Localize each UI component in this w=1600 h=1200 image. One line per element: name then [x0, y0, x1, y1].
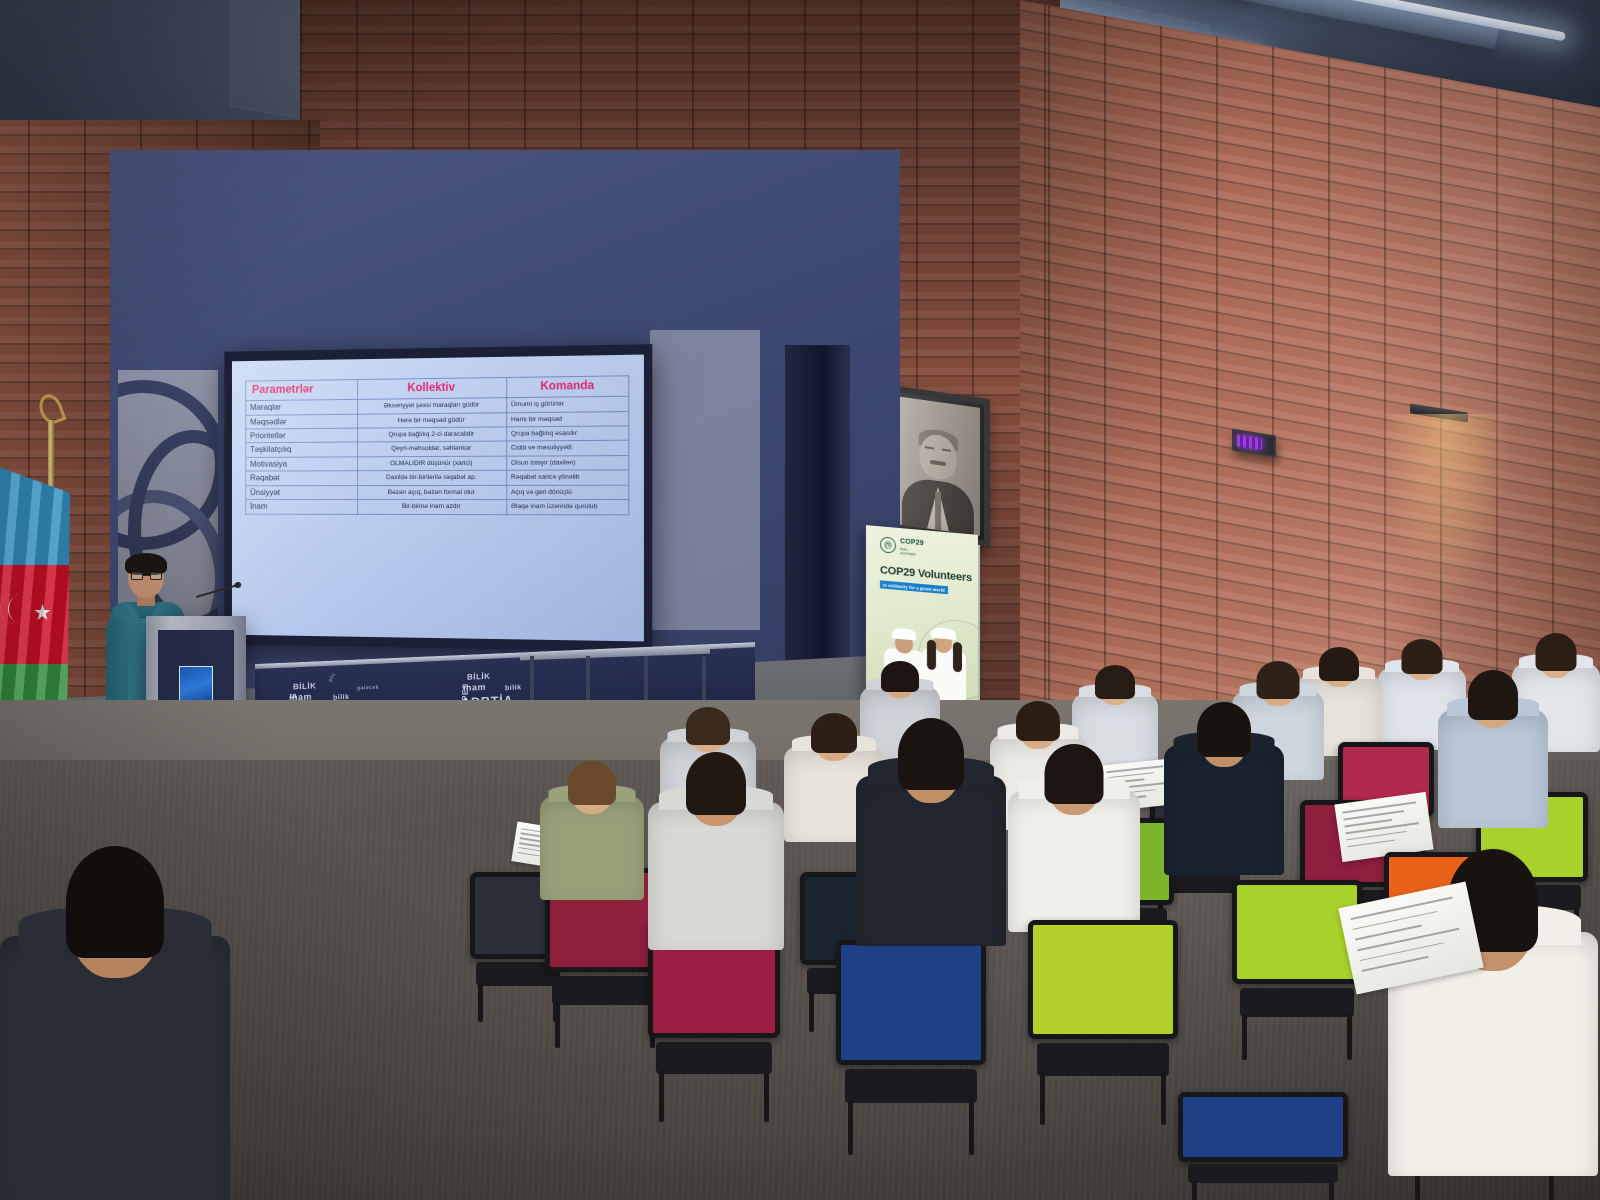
arc-motif [650, 330, 760, 530]
table-row: Motivasiya OLMALIDIR düşünür (xarici) Ol… [246, 455, 629, 471]
chair[interactable] [1028, 920, 1178, 1125]
chair-backrest [836, 940, 986, 1065]
chair-seat [1240, 988, 1354, 1017]
audience-member-hair [686, 752, 746, 815]
skirt-word: BİLİK [293, 681, 316, 691]
cell-kollektiv: Bir-birinə inam azdır [357, 500, 506, 515]
cell-komanda: Ciddi və məsuliyyətli [506, 441, 628, 456]
banner-tagline: In solidarity for a green world [880, 580, 948, 594]
eyeglasses-icon [131, 572, 162, 580]
paper-text-line [1358, 928, 1460, 951]
cell-komanda: Rəqabət xaricə yönəlib [506, 470, 628, 485]
chair-leg [1242, 1013, 1247, 1060]
projection-screen-frame: Parametrlər Kollektiv Komanda Maraqlar Ə… [224, 344, 652, 652]
paper-text-line [1353, 911, 1437, 930]
audience-member [648, 750, 784, 950]
chair-seat [1037, 1043, 1169, 1076]
audience-member-hair [881, 661, 919, 692]
table-row: İnam Bir-birinə inam azdır Əlaqə inam üz… [246, 500, 629, 515]
audience-member [1164, 700, 1284, 875]
audience-member [856, 716, 1006, 946]
audience-member-hair [66, 846, 164, 958]
chair[interactable] [836, 940, 986, 1155]
chair-leg [1161, 1072, 1166, 1125]
chair-leg [659, 1070, 664, 1122]
skirt-word: güc [327, 672, 336, 683]
paper-text-line [1360, 942, 1444, 961]
cell-kollektiv: Əksəriyyət şəxsi maraqları güdür [357, 398, 506, 414]
chair[interactable] [648, 922, 780, 1122]
chair-leg [555, 1001, 560, 1048]
paper-text-line [1343, 801, 1416, 813]
cell-kollektiv: Qeyri-məhsuldar, səhlənkar [357, 442, 506, 457]
audience-member-hair [568, 761, 616, 805]
cell-parameter: İnam [246, 500, 357, 514]
audience-member-hair [1536, 633, 1577, 671]
column-header-parameters: Parametrlər [246, 380, 357, 401]
portrait-face [920, 433, 957, 482]
chair-seat [552, 976, 658, 1005]
chair-leg [764, 1070, 769, 1122]
chair-leg [1192, 1181, 1197, 1200]
chair-leg [809, 990, 814, 1032]
cell-parameter: Ünsiyyət [246, 485, 357, 499]
portrait-brow [942, 449, 951, 452]
chair-leg [969, 1099, 974, 1155]
projection-screen: Parametrlər Kollektiv Komanda Maraqlar Ə… [232, 355, 644, 642]
audience-member-hair [898, 718, 964, 790]
chair-leg [1329, 1181, 1334, 1200]
eight-pointed-star-icon [34, 604, 51, 621]
cell-kollektiv: Daxildə bir-birilərilə rəqabət ap. [357, 471, 506, 486]
cell-parameter: Rəqabət [246, 471, 357, 485]
chair-leg [1040, 1072, 1045, 1125]
portrait-image [896, 396, 980, 536]
banner-person-cap [931, 627, 956, 640]
audience-member [0, 842, 230, 1200]
cell-parameter: Məqsədlər [246, 414, 357, 429]
chair-backrest [1178, 1092, 1348, 1162]
cell-kollektiv: OLMALIDIR düşünür (xarici) [357, 456, 506, 471]
audience-member-hair [1197, 702, 1251, 757]
cop29-logo-text: COP29 [900, 538, 924, 547]
crescent-icon [0, 594, 30, 624]
chair-leg [1347, 1013, 1352, 1060]
chair-leg [478, 983, 483, 1022]
portrait-suit [902, 476, 974, 535]
cell-parameter: Motivasiya [246, 457, 357, 472]
cop29-logo-icon [880, 536, 896, 553]
cell-parameter: Təşkilatçılıq [246, 442, 357, 457]
table-row: Ünsiyyət Bəzən açıq, bəzən formal olur A… [246, 485, 629, 500]
skirt-word: gələcək [357, 685, 379, 692]
column-header-kollektiv: Kollektiv [357, 377, 506, 399]
portrait-tie [935, 491, 941, 530]
audience-member-hair [811, 713, 857, 753]
cell-kollektiv: Hərə bir məqsəd güdür [357, 412, 506, 428]
skirt-word: BİLİK [467, 672, 490, 682]
cell-kollektiv: Qrupa bağlılıq 2-ci daracalidir [357, 427, 506, 443]
table-row: Rəqabət Daxildə bir-birilərilə rəqabət a… [246, 470, 629, 485]
audience-member-hair [1402, 639, 1443, 674]
cell-kollektiv: Bəzən açıq, bəzən formal olur [357, 485, 506, 500]
cell-komanda: Əlaqə inam üzərində qurulub [506, 500, 628, 515]
audience-member-hair [1045, 744, 1104, 804]
conference-hall-photo: Parametrlər Kollektiv Komanda Maraqlar Ə… [0, 0, 1600, 1200]
portrait-brow [925, 446, 934, 449]
cell-parameter: Prioritetlər [246, 428, 357, 443]
presentation-slide: Parametrlər Kollektiv Komanda Maraqlar Ə… [232, 355, 644, 642]
arc-motif [118, 380, 218, 550]
presenter-arm-left [106, 618, 128, 710]
slide-comparison-table: Parametrlər Kollektiv Komanda Maraqlar Ə… [245, 375, 629, 515]
stage-curtain [785, 345, 850, 675]
portrait-shirt [927, 485, 949, 532]
stage-decorative-panel-2 [650, 330, 760, 630]
portrait-hair [919, 427, 958, 450]
chair[interactable] [1178, 1092, 1348, 1200]
chair-seat [656, 1042, 772, 1074]
audience-member-hair [1016, 701, 1060, 741]
column-header-komanda: Komanda [506, 376, 628, 398]
chair-backrest [1028, 920, 1178, 1039]
audience-member-hair [1257, 661, 1300, 699]
audience-member-hair [1468, 670, 1518, 720]
cell-komanda: Ümumi iş görürlər [506, 396, 628, 412]
audience-member-hair [1095, 665, 1135, 699]
banner-person-cap [892, 627, 916, 640]
audience-member [1008, 742, 1140, 932]
portrait-moustache [930, 460, 946, 466]
cell-komanda: Olsun istəyir (daxilən) [506, 455, 628, 470]
chair-leg [848, 1099, 853, 1155]
banner-person-hair [953, 642, 962, 673]
cell-komanda: Hamı bir məqsəd [506, 411, 628, 427]
audience-member [540, 760, 644, 900]
audience-member-hair [1319, 647, 1359, 681]
audience-member [1438, 668, 1548, 828]
chair-seat [1188, 1164, 1338, 1183]
cop29-logo-subtext: Baku Azerbaijan [900, 547, 916, 557]
chair-seat [845, 1069, 977, 1103]
cell-komanda: Qrupa bağlılıq əsasdır [506, 426, 628, 442]
framed-portrait [886, 385, 990, 548]
cell-komanda: Açıq və geri dönüşlü [506, 485, 628, 500]
audience-member-hair [686, 707, 730, 745]
arc-motif [650, 530, 760, 630]
cell-parameter: Maraqlar [246, 400, 357, 415]
